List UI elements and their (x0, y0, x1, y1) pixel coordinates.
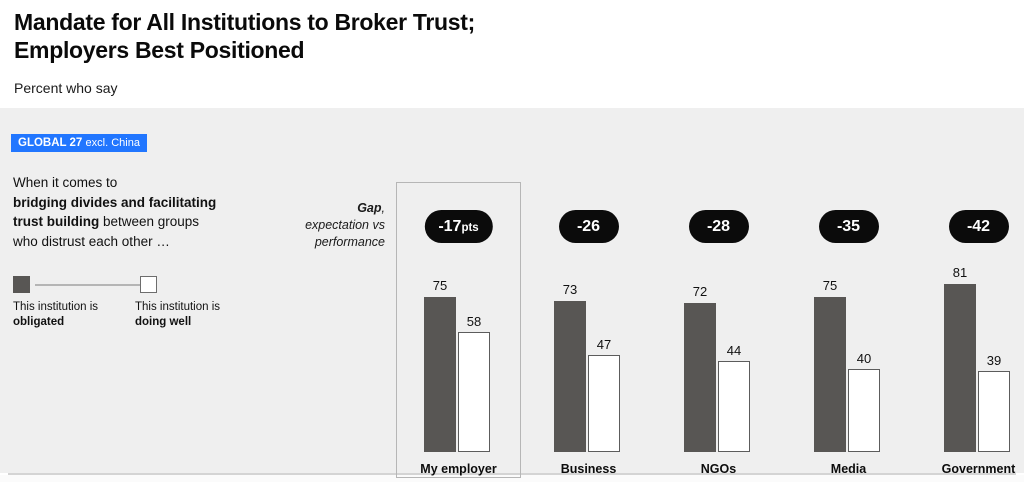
bar-group[interactable]: -428139Government (916, 182, 1024, 478)
gap-caption: Gap, expectation vs performance (275, 200, 385, 251)
question-line-1: When it comes to (13, 175, 117, 190)
bar-obligated[interactable]: 75 (814, 297, 846, 452)
bar-obligated[interactable]: 75 (424, 297, 456, 452)
bar-doing-well[interactable]: 44 (718, 361, 750, 452)
status-badge-global-sample: GLOBAL 27 excl. China (11, 134, 147, 152)
legend-swatch-doing-well (140, 276, 157, 293)
badge-scope-label: GLOBAL 27 (18, 137, 82, 149)
bar-obligated-value: 81 (953, 265, 967, 280)
legend-label-obligated-bold: obligated (13, 315, 123, 330)
bar-doing-well[interactable]: 58 (458, 332, 490, 452)
bar-group[interactable]: -267347Business (526, 182, 651, 478)
gap-caption-word: Gap (357, 201, 381, 215)
bar-doing-well[interactable]: 40 (848, 369, 880, 452)
legend-label-doing-well-bold: doing well (135, 315, 245, 330)
legend-swatch-obligated (13, 276, 30, 293)
bar-obligated[interactable]: 72 (684, 303, 716, 452)
chart-header: Mandate for All Institutions to Broker T… (0, 0, 1024, 108)
category-label: Media (786, 462, 911, 476)
bar-doing-well-value: 39 (987, 353, 1001, 368)
category-label: NGOs (656, 462, 781, 476)
bar-obligated[interactable]: 81 (944, 284, 976, 452)
bars: 7540 (786, 182, 911, 478)
bars: 7244 (656, 182, 781, 478)
legend-label-doing-well: This institution is doing well (135, 300, 245, 330)
bar-doing-well[interactable]: 39 (978, 371, 1010, 452)
bars: 8139 (916, 182, 1024, 478)
bar-doing-well-value: 47 (597, 337, 611, 352)
survey-question-text: When it comes to bridging divides and fa… (13, 173, 263, 251)
legend-label-obligated-top: This institution is (13, 301, 98, 313)
question-bold-2: trust building (13, 214, 99, 229)
legend-connector-line (35, 284, 153, 286)
bar-obligated[interactable]: 73 (554, 301, 586, 452)
category-label: My employer (396, 462, 521, 476)
bar-obligated-value: 72 (693, 284, 707, 299)
bar-group[interactable]: -17pts7558My employer (396, 182, 521, 478)
question-line-2: between groups (99, 214, 199, 229)
bar-obligated-value: 75 (433, 278, 447, 293)
question-bold-1: bridging divides and facilitating (13, 195, 216, 210)
bar-obligated-value: 73 (563, 282, 577, 297)
legend-label-doing-well-top: This institution is (135, 301, 220, 313)
gap-caption-line-2: expectation vs (305, 218, 385, 232)
bar-obligated-value: 75 (823, 278, 837, 293)
bars: 7558 (396, 182, 521, 478)
page-title: Mandate for All Institutions to Broker T… (14, 8, 1010, 65)
category-label: Government (916, 462, 1024, 476)
bar-group[interactable]: -287244NGOs (656, 182, 781, 478)
category-label: Business (526, 462, 651, 476)
chart-subtitle: Percent who say (14, 80, 118, 96)
gap-caption-line-3: performance (315, 235, 385, 249)
bar-doing-well[interactable]: 47 (588, 355, 620, 452)
question-line-3: who distrust each other … (13, 234, 170, 249)
bar-doing-well-value: 40 (857, 351, 871, 366)
bar-group[interactable]: -357540Media (786, 182, 911, 478)
legend-label-obligated: This institution is obligated (13, 300, 123, 330)
bar-doing-well-value: 58 (467, 314, 481, 329)
bars: 7347 (526, 182, 651, 478)
badge-exclusion-label: excl. China (86, 137, 140, 149)
bar-doing-well-value: 44 (727, 343, 741, 358)
gap-caption-comma: , (382, 201, 385, 215)
